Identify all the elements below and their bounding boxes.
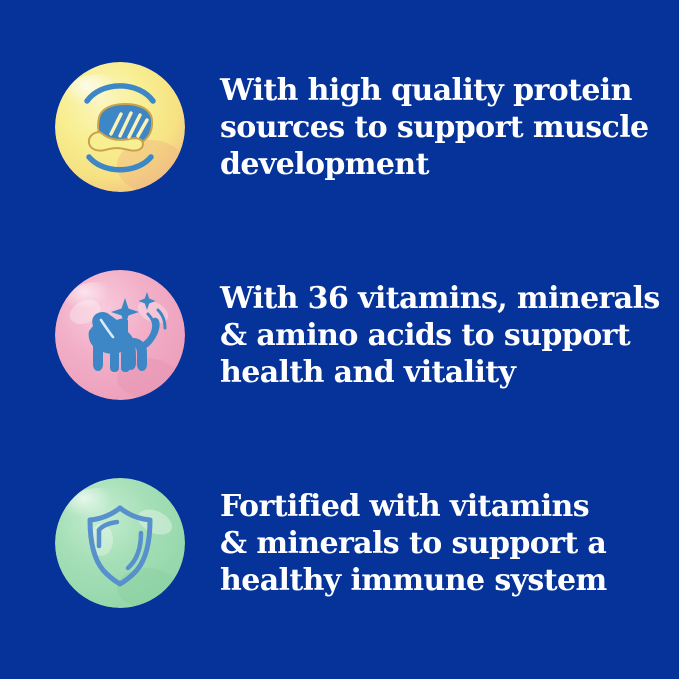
vitamins-badge [55, 270, 185, 400]
benefit-row: With 36 vitamins, minerals & amino acids… [0, 270, 679, 400]
benefit-text: With high quality protein sources to sup… [220, 72, 679, 183]
benefit-row: With high quality protein sources to sup… [0, 62, 679, 192]
benefits-infographic: With high quality protein sources to sup… [0, 0, 679, 679]
protein-badge [55, 62, 185, 192]
benefit-text: Fortified with vitamins & minerals to su… [220, 488, 679, 599]
benefit-row: Fortified with vitamins & minerals to su… [0, 478, 679, 608]
benefit-text: With 36 vitamins, minerals & amino acids… [220, 280, 679, 391]
immune-badge [55, 478, 185, 608]
